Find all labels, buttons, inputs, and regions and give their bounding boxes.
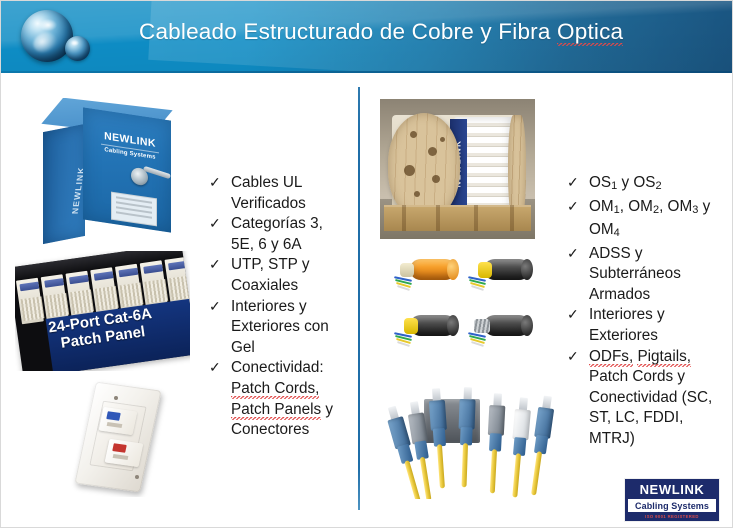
list-item-label: Categorías 3, 5E, 6 y 6A xyxy=(231,214,349,255)
list-item: ✓ ODFs, Pigtails, Patch Cords y Conectiv… xyxy=(567,347,727,450)
list-item-label: ADSS y Subterráneos Armados xyxy=(589,244,727,306)
wall-plate-red-insert xyxy=(112,443,127,453)
checkmark-icon: ✓ xyxy=(567,304,579,325)
column-divider xyxy=(358,87,360,510)
checkmark-icon: ✓ xyxy=(209,254,221,275)
logo-tagline-band: Cabling Systems xyxy=(625,499,719,512)
image-patch-panel: 24-Port Cat-6A Patch Panel xyxy=(15,251,190,371)
fiber-cable-orange xyxy=(394,259,456,289)
list-item-label: OS1 y OS2 xyxy=(589,173,727,197)
list-item-label: ODFs, Pigtails, Patch Cords y Conectivid… xyxy=(589,347,727,450)
logo-tagline: Cabling Systems xyxy=(635,501,709,511)
logo-certification-text: ISO 9001 REGISTERED xyxy=(645,514,699,519)
list-item: ✓ Interiores y Exteriores con Gel xyxy=(209,297,349,359)
wall-plate-screw-bottom xyxy=(135,475,139,479)
list-item: ✓ OM1, OM2, OM3 y OM4 xyxy=(567,197,727,244)
newlink-brand-logo: NEWLINK Cabling Systems ISO 9001 REGISTE… xyxy=(625,479,719,521)
checkmark-icon: ✓ xyxy=(567,196,579,217)
page-title: Cableado Estructurado de Cobre y Fibra O… xyxy=(139,19,699,45)
patch-panel-port xyxy=(115,264,143,311)
checkmark-icon: ✓ xyxy=(209,213,221,234)
list-item-label: Conectividad: Patch Cords, Patch Panels … xyxy=(231,358,349,440)
list-item-label: UTP, STP y Coaxiales xyxy=(231,255,349,296)
checkmark-icon: ✓ xyxy=(567,243,579,264)
sphere-logo xyxy=(15,5,135,71)
checkmark-icon: ✓ xyxy=(209,172,221,193)
slide-header-banner: Cableado Estructurado de Cobre y Fibra O… xyxy=(1,1,733,73)
checkmark-icon: ✓ xyxy=(567,346,579,367)
sphere-highlight xyxy=(39,19,57,31)
list-item-label: Interiores y Exteriores xyxy=(589,305,727,346)
list-item: ✓ ADSS y Subterráneos Armados xyxy=(567,244,727,306)
list-item: ✓ Cables UL Verificados xyxy=(209,173,349,214)
page-title-text: Cableado Estructurado de Cobre y Fibra xyxy=(139,19,557,44)
list-item: ✓ Interiores y Exteriores xyxy=(567,305,727,346)
logo-brand-name: NEWLINK xyxy=(640,482,705,497)
list-item-label: Interiores y Exteriores con Gel xyxy=(231,297,349,359)
fiber-cable-black-2 xyxy=(394,315,456,345)
patch-panel-port xyxy=(41,274,69,321)
list-item: ✓ Conectividad: Patch Cords, Patch Panel… xyxy=(209,358,349,440)
wall-plate-screw-top xyxy=(114,396,118,400)
page-title-misspelled-word: Optica xyxy=(557,19,623,46)
list-item: ✓ UTP, STP y Coaxiales xyxy=(209,255,349,296)
wall-plate-jack-bottom xyxy=(105,439,144,467)
fiber-cable-armored xyxy=(468,315,530,345)
list-item-label: Cables UL Verificados xyxy=(231,173,349,214)
image-wall-plate xyxy=(63,379,189,497)
reel-pallet xyxy=(384,205,531,231)
image-fiber-cable-cutaways xyxy=(380,253,535,368)
box-side-face: NEWLINK xyxy=(43,124,85,244)
checkmark-icon: ✓ xyxy=(567,172,579,193)
list-item: ✓ OS1 y OS2 xyxy=(567,173,727,197)
logo-certification-band: ISO 9001 REGISTERED xyxy=(625,512,719,521)
small-sphere-icon xyxy=(65,36,90,61)
right-bullet-list: ✓ OS1 y OS2 ✓ OM1, OM2, OM3 y OM4 ✓ ADSS… xyxy=(567,173,727,450)
fiber-cable-black-1 xyxy=(468,259,530,289)
patch-panel-port xyxy=(140,260,168,307)
image-cable-box: NEWLINK NEWLINK Cabling Systems xyxy=(35,98,187,246)
patch-panel-port xyxy=(164,257,190,304)
list-item-label: OM1, OM2, OM3 y OM4 xyxy=(589,197,727,244)
left-bullet-list: ✓ Cables UL Verificados ✓ Categorías 3, … xyxy=(209,173,349,441)
image-fiber-connectors xyxy=(380,381,570,499)
slide: Cableado Estructurado de Cobre y Fibra O… xyxy=(0,0,733,528)
large-sphere-icon xyxy=(21,10,73,62)
logo-name-band: NEWLINK xyxy=(625,479,719,499)
checkmark-icon: ✓ xyxy=(209,296,221,317)
list-item: ✓ Categorías 3, 5E, 6 y 6A xyxy=(209,214,349,255)
checkmark-icon: ✓ xyxy=(209,357,221,378)
patch-panel-port xyxy=(16,278,44,325)
image-cable-reel: NEWLINK xyxy=(380,99,535,239)
wall-plate-blue-insert xyxy=(106,411,121,421)
wall-plate-jack-top xyxy=(99,407,138,435)
patch-panel-port xyxy=(90,267,118,314)
patch-panel-port xyxy=(65,271,93,318)
